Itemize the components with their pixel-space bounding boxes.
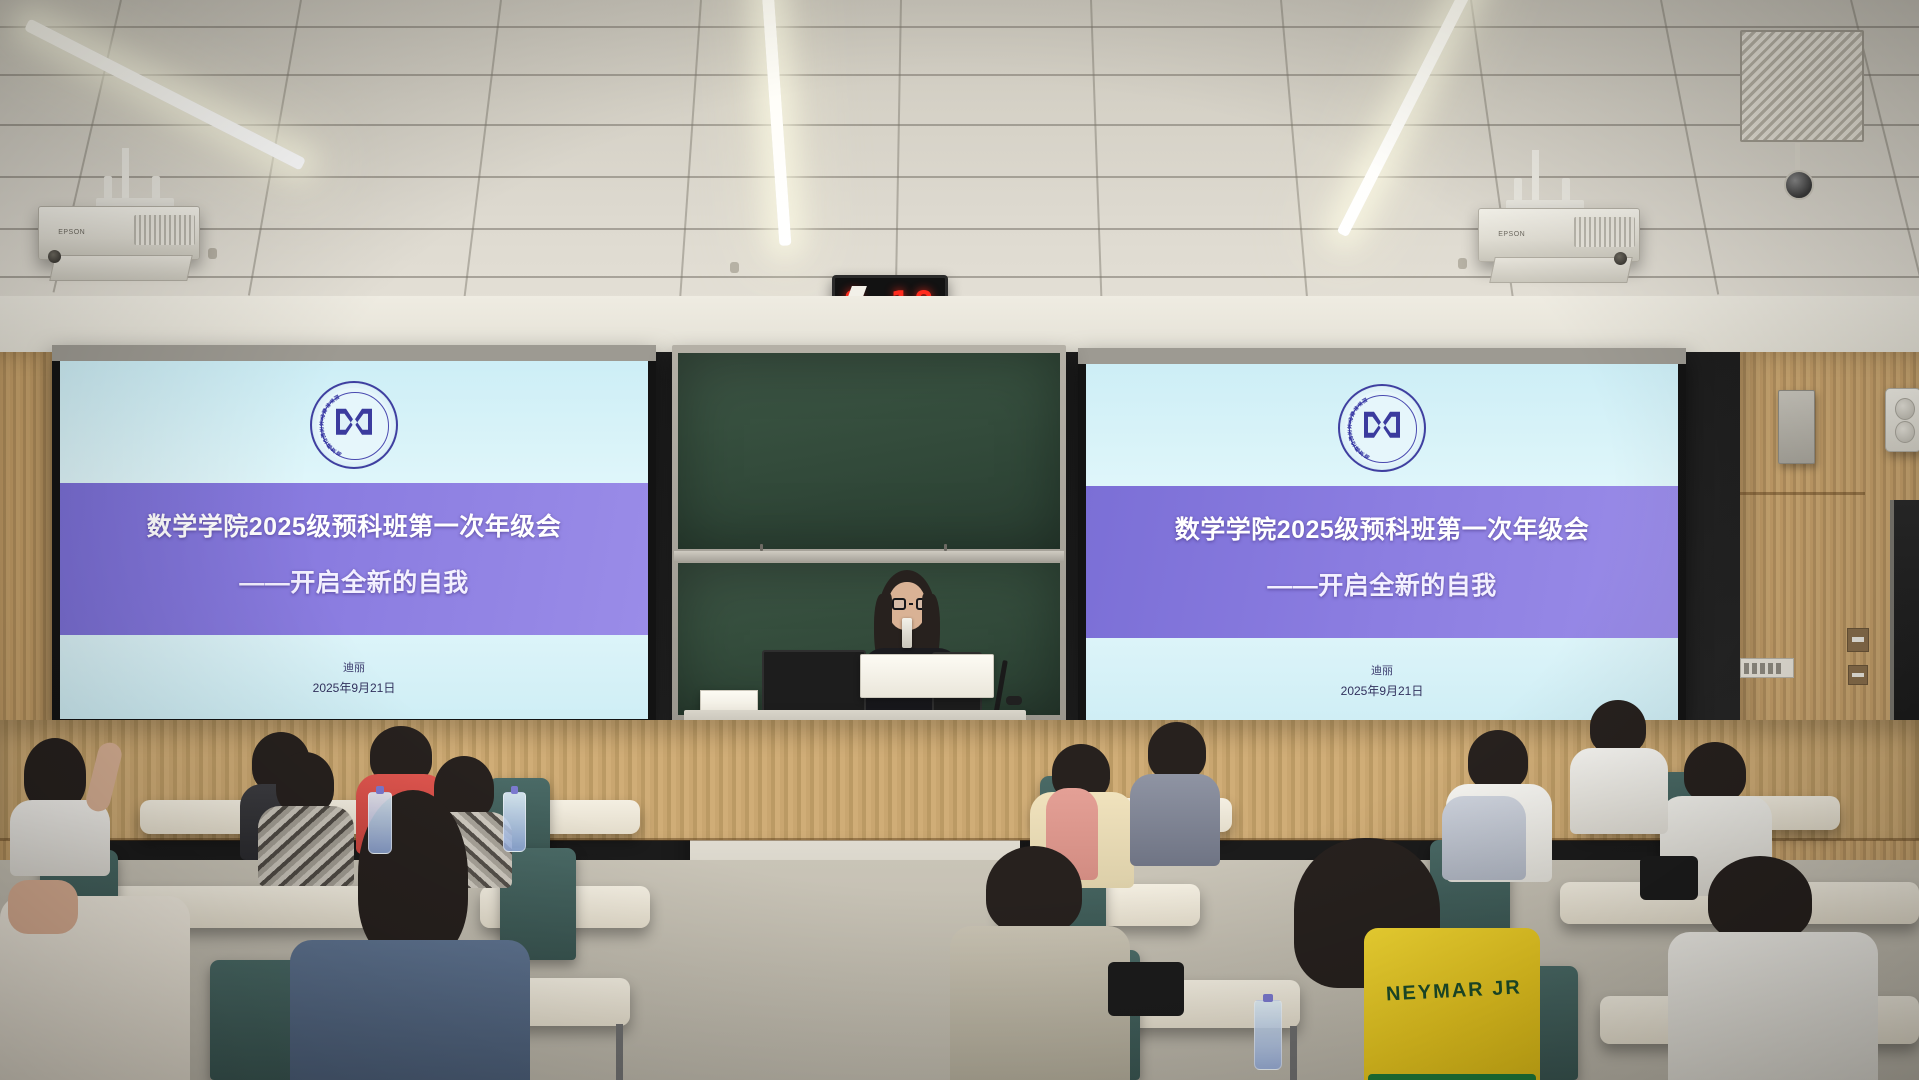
slide-title-band-left: 数学学院2025级预科班第一次年级会 ——开启全新的自我: [60, 483, 648, 635]
jersey-collar: [1368, 1074, 1536, 1080]
lecture-hall-photo: EPSON EPSON 8 18: [0, 0, 1919, 1080]
presenter-microphone: [902, 618, 912, 648]
podium-monitor: [762, 650, 866, 716]
wall-trim-right: [1740, 492, 1865, 495]
student-front-denim: [290, 790, 530, 1080]
chalkboard-upper-panel: [678, 353, 1060, 549]
sprinkler-icon: [730, 262, 739, 273]
slide-title-band-right: 数学学院2025级预科班第一次年级会 ——开启全新的自我: [1086, 486, 1678, 638]
water-bottle: [1254, 1000, 1282, 1070]
student-right-dark: [1130, 722, 1220, 862]
wall-utility-box: [1778, 390, 1815, 464]
screen-roller-right: [1078, 348, 1686, 364]
podium-mic-head: [1006, 696, 1022, 705]
water-bottle: [503, 792, 526, 852]
emblem-monogram: [1360, 408, 1404, 447]
student-front-mid: [950, 846, 1130, 1080]
slide-subtitle-right: ——开启全新的自我: [1086, 566, 1678, 602]
slide-header-right: 南京航空航天大学数学学院SCHOOL OF MATHEMATICS NUAA: [1086, 364, 1678, 486]
projection-screen-left: 南京航空航天大学数学学院SCHOOL OF MATHEMATICS NUAA 数…: [52, 345, 656, 727]
projector-brand-label: EPSON: [1498, 231, 1525, 238]
slide-header-left: 南京航空航天大学数学学院SCHOOL OF MATHEMATICS NUAA: [60, 361, 648, 483]
podium-paper-stack: [860, 654, 994, 698]
wall-socket-plate[interactable]: [1848, 665, 1868, 685]
student-front-neymar: NEYMAR JR: [1268, 838, 1528, 1080]
student-front-left: [0, 836, 190, 1080]
slide-date-right: 2025年9月21日: [1341, 682, 1424, 699]
slide-footer-left: 迪丽 2025年9月21日: [60, 635, 648, 719]
chalkboard-rail-tick: [760, 544, 763, 551]
desk-leg: [616, 1024, 623, 1080]
water-bottle: [368, 792, 392, 854]
chalkboard-divider: [674, 551, 1064, 561]
wall-speaker: [1885, 388, 1919, 452]
slide-right: 南京航空航天大学数学学院SCHOOL OF MATHEMATICS NUAA 数…: [1086, 364, 1678, 722]
sprinkler-icon: [208, 248, 217, 259]
emblem-monogram: [332, 405, 376, 444]
slide-subtitle-left: ——开启全新的自我: [60, 563, 648, 599]
slide-date-left: 2025年9月21日: [313, 679, 396, 696]
screen-roller-left: [52, 345, 656, 361]
slide-presenter-left: 迪丽: [343, 659, 365, 675]
school-emblem: 南京航空航天大学数学学院SCHOOL OF MATHEMATICS NUAA: [1338, 384, 1426, 472]
slide-title-left: 数学学院2025级预科班第一次年级会: [60, 507, 648, 543]
slide-left: 南京航空航天大学数学学院SCHOOL OF MATHEMATICS NUAA 数…: [60, 361, 648, 719]
security-camera-icon: [1784, 170, 1814, 200]
camera-stem: [1795, 143, 1800, 173]
student-front-right: [1668, 856, 1878, 1080]
wall-outlet-strip[interactable]: [1740, 658, 1794, 678]
chalkboard-rail-tick: [944, 544, 947, 551]
backpack: [1108, 962, 1184, 1016]
slide-title-right: 数学学院2025级预科班第一次年级会: [1086, 510, 1678, 546]
backpack: [1640, 856, 1698, 900]
sprinkler-icon: [1458, 258, 1467, 269]
hvac-vent: [1740, 30, 1864, 142]
slide-presenter-right: 迪丽: [1371, 662, 1393, 678]
student-right-far: [1570, 700, 1668, 830]
wall-switch-plate[interactable]: [1847, 628, 1869, 652]
projection-screen-right: 南京航空航天大学数学学院SCHOOL OF MATHEMATICS NUAA 数…: [1078, 348, 1686, 730]
school-emblem: 南京航空航天大学数学学院SCHOOL OF MATHEMATICS NUAA: [310, 381, 398, 469]
student-back-arm: [92, 742, 138, 814]
projector-brand-label: EPSON: [58, 229, 85, 236]
